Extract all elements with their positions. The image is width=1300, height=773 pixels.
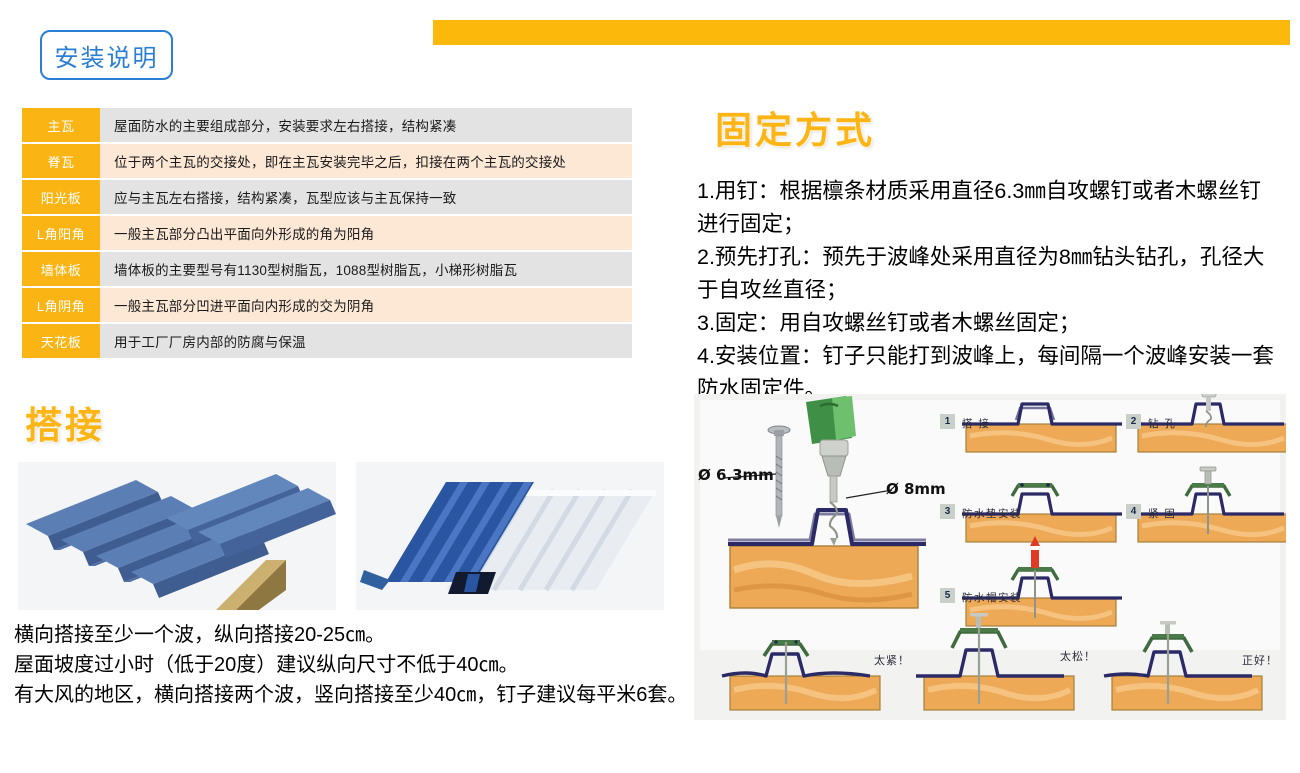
spec-description-cell: 屋面防水的主要组成部分，安装要求左右搭接，结构紧凑: [100, 108, 632, 142]
step-label-2: 钻 孔: [1148, 416, 1176, 431]
table-row: 主瓦屋面防水的主要组成部分，安装要求左右搭接，结构紧凑: [22, 108, 632, 142]
photo-sheet-and-skylight-panel: [356, 462, 664, 610]
spec-description-cell: 一般主瓦部分凹进平面向内形成的交为阴角: [100, 288, 632, 322]
section-title-lapping: 搭接: [25, 395, 105, 449]
step-number-2: 2: [1126, 414, 1141, 429]
spec-label-cell: 脊瓦: [22, 144, 100, 178]
spec-description-cell: 一般主瓦部分凸出平面向外形成的角为阳角: [100, 216, 632, 250]
spec-table: 主瓦屋面防水的主要组成部分，安装要求左右搭接，结构紧凑脊瓦位于两个主瓦的交接处，…: [22, 108, 632, 358]
lapping-note-line: 有大风的地区，横向搭接两个波，竖向搭接至少40㎝，钉子建议每平米6套。: [14, 680, 694, 710]
table-row: L角阳角一般主瓦部分凸出平面向外形成的角为阳角: [22, 216, 632, 250]
photo-roof-sheets-on-purlin: [18, 462, 336, 610]
judgement-label-too-loose: 太松！: [1060, 648, 1096, 664]
fixing-instruction-item: 3.固定：用自攻螺丝钉或者木螺丝固定；: [697, 307, 1277, 340]
judgement-label-too-tight: 太紧！: [874, 652, 910, 668]
step-number-5: 5: [940, 588, 955, 603]
step-label-4: 紧 固: [1148, 506, 1176, 521]
spec-description-cell: 位于两个主瓦的交接处，即在主瓦安装完毕之后，扣接在两个主瓦的交接处: [100, 144, 632, 178]
step-number-4: 4: [1126, 504, 1141, 519]
installation-instructions-page: 安装说明 主瓦屋面防水的主要组成部分，安装要求左右搭接，结构紧凑脊瓦位于两个主瓦…: [0, 0, 1300, 773]
fixing-illustration-panel: Ø 6.3mm Ø 8mm 1 搭 接 2 钻 孔 3 防水垫安装 4 紧 固 …: [694, 394, 1286, 720]
screw-diameter-label: Ø 6.3mm: [698, 466, 774, 484]
spec-label-cell: 墙体板: [22, 252, 100, 286]
spec-description-cell: 用于工厂厂房内部的防腐与保温: [100, 324, 632, 358]
step-number-3: 3: [940, 504, 955, 519]
roof-sheet-illustration-2: [356, 462, 664, 610]
spec-label-cell: L角阳角: [22, 216, 100, 250]
step-label-1: 搭 接: [962, 416, 990, 431]
section-title-fixing: 固定方式: [715, 100, 875, 154]
spec-description-cell: 墙体板的主要型号有1130型树脂瓦，1088型树脂瓦，小梯形树脂瓦: [100, 252, 632, 286]
table-row: 阳光板应与主瓦左右搭接，结构紧凑，瓦型应该与主瓦保持一致: [22, 180, 632, 214]
fixing-diagram: [694, 394, 1286, 720]
fixing-instruction-item: 2.预先打孔：预先于波峰处采用直径为8㎜钻头钻孔，孔径大于自攻丝直径；: [697, 241, 1277, 307]
spec-label-cell: L角阴角: [22, 288, 100, 322]
page-title-badge: 安装说明: [40, 30, 173, 80]
step-number-1: 1: [940, 414, 955, 429]
lapping-note-line: 屋面坡度过小时（低于20度）建议纵向尺寸不低于40㎝。: [14, 650, 694, 680]
drill-diameter-label: Ø 8mm: [886, 480, 946, 498]
judgement-label-just-right: 正好！: [1242, 652, 1278, 668]
fixing-instructions-list: 1.用钉：根据檩条材质采用直径6.3㎜自攻螺钉或者木螺丝钉进行固定；2.预先打孔…: [697, 175, 1277, 406]
step-label-5: 防水帽安装: [962, 590, 1022, 605]
step-label-3: 防水垫安装: [962, 506, 1022, 521]
table-row: 天花板用于工厂厂房内部的防腐与保温: [22, 324, 632, 358]
lapping-notes: 横向搭接至少一个波，纵向搭接20-25㎝。屋面坡度过小时（低于20度）建议纵向尺…: [14, 620, 694, 710]
spec-label-cell: 天花板: [22, 324, 100, 358]
roof-sheet-illustration-1: [18, 462, 336, 610]
fixing-instruction-item: 1.用钉：根据檩条材质采用直径6.3㎜自攻螺钉或者木螺丝钉进行固定；: [697, 175, 1277, 241]
lapping-note-line: 横向搭接至少一个波，纵向搭接20-25㎝。: [14, 620, 694, 650]
spec-label-cell: 阳光板: [22, 180, 100, 214]
table-row: L角阴角一般主瓦部分凹进平面向内形成的交为阴角: [22, 288, 632, 322]
spec-label-cell: 主瓦: [22, 108, 100, 142]
spec-description-cell: 应与主瓦左右搭接，结构紧凑，瓦型应该与主瓦保持一致: [100, 180, 632, 214]
table-row: 脊瓦位于两个主瓦的交接处，即在主瓦安装完毕之后，扣接在两个主瓦的交接处: [22, 144, 632, 178]
table-row: 墙体板墙体板的主要型号有1130型树脂瓦，1088型树脂瓦，小梯形树脂瓦: [22, 252, 632, 286]
header-accent-bar: [433, 20, 1290, 45]
